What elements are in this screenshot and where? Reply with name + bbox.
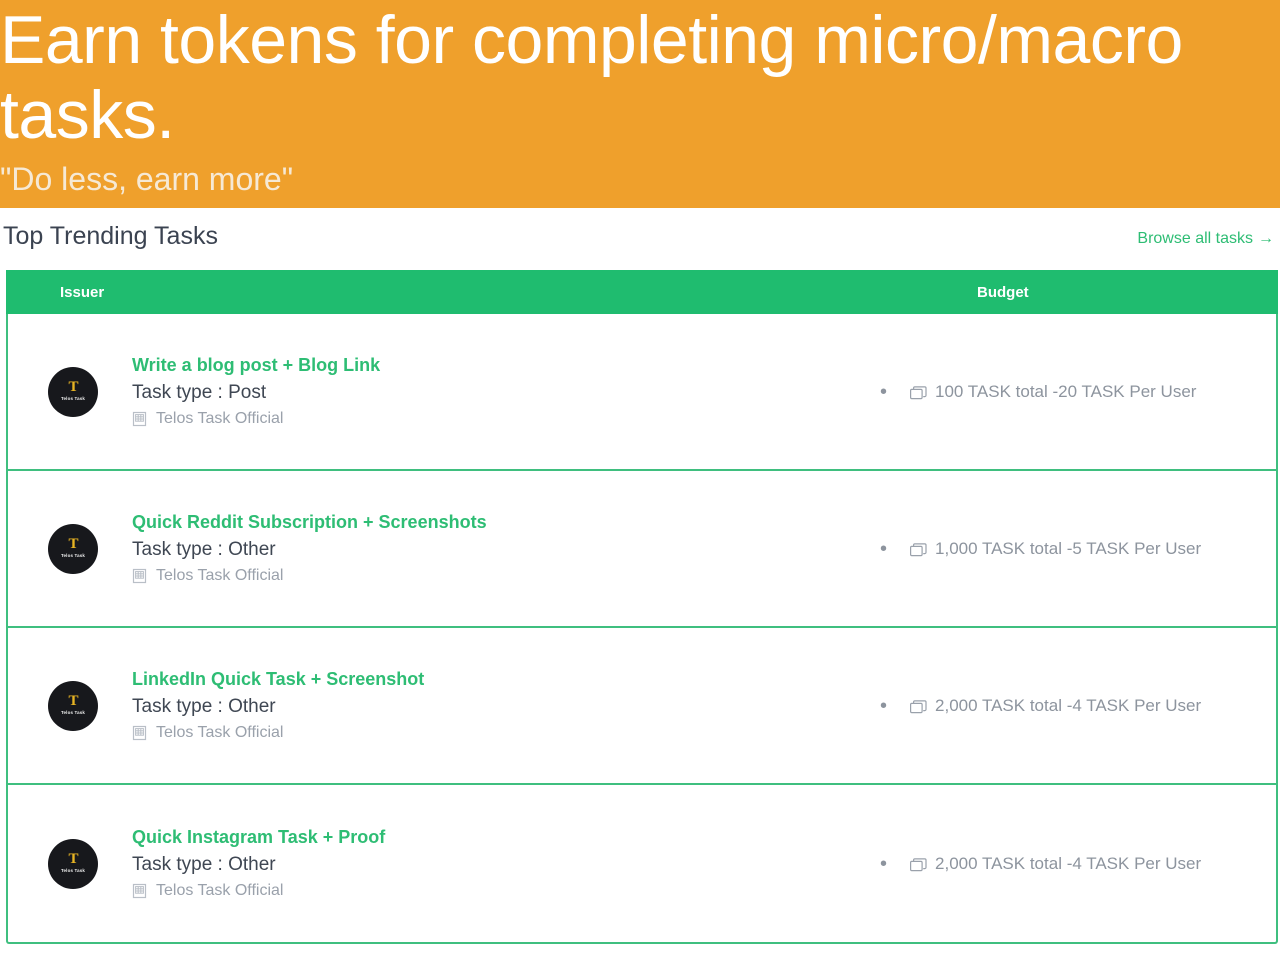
stacked-cards-icon: [910, 857, 927, 871]
building-icon: [132, 568, 147, 584]
bullet-icon: •: [880, 701, 887, 711]
building-icon: [132, 411, 147, 427]
hero-subtitle: "Do less, earn more": [0, 160, 293, 198]
task-issuer: Telos Task Official: [132, 567, 487, 585]
stacked-cards-icon: [910, 699, 927, 713]
task-info: Write a blog post + Blog Link Task type …: [132, 355, 380, 428]
issuer-cell: T Telos Task Quick Reddit Subscription +…: [8, 512, 868, 585]
page-title: Top Trending Tasks: [3, 222, 218, 251]
task-title-link[interactable]: Write a blog post + Blog Link: [132, 355, 380, 376]
task-info: Quick Instagram Task + Proof Task type :…: [132, 827, 385, 900]
avatar-label: Telos Task: [61, 395, 85, 402]
telos-task-logo-icon: T: [68, 538, 77, 551]
task-issuer: Telos Task Official: [132, 410, 380, 428]
stacked-cards-icon: [910, 542, 927, 556]
budget-text: 2,000 TASK total -4 TASK Per User: [935, 854, 1201, 874]
browse-all-tasks-label: Browse all tasks: [1137, 230, 1253, 247]
avatar: T Telos Task: [48, 839, 98, 889]
avatar: T Telos Task: [48, 681, 98, 731]
avatar-label: Telos Task: [61, 867, 85, 874]
task-issuer: Telos Task Official: [132, 882, 385, 900]
avatar-label: Telos Task: [61, 709, 85, 716]
budget-line: • 100 TASK total -20 TASK Per User: [880, 382, 1196, 402]
budget-cell: • 1,000 TASK total -5 TASK Per User: [868, 539, 1276, 559]
telos-task-logo-icon: T: [68, 381, 77, 394]
issuer-cell: T Telos Task Quick Instagram Task + Proo…: [8, 827, 868, 900]
table-row[interactable]: T Telos Task LinkedIn Quick Task + Scree…: [8, 628, 1276, 785]
issuer-cell: T Telos Task Write a blog post + Blog Li…: [8, 355, 868, 428]
task-info: LinkedIn Quick Task + Screenshot Task ty…: [132, 669, 424, 742]
telos-task-logo-icon: T: [68, 695, 77, 708]
issuer-cell: T Telos Task LinkedIn Quick Task + Scree…: [8, 669, 868, 742]
budget-cell: • 2,000 TASK total -4 TASK Per User: [868, 696, 1276, 716]
task-title-link[interactable]: Quick Reddit Subscription + Screenshots: [132, 512, 487, 533]
building-icon: [132, 883, 147, 899]
hero-banner: Earn tokens for completing micro/macro t…: [0, 0, 1280, 208]
budget-line: • 2,000 TASK total -4 TASK Per User: [880, 854, 1201, 874]
task-title-link[interactable]: LinkedIn Quick Task + Screenshot: [132, 669, 424, 690]
budget-line: • 2,000 TASK total -4 TASK Per User: [880, 696, 1201, 716]
task-title-link[interactable]: Quick Instagram Task + Proof: [132, 827, 385, 848]
table-row[interactable]: T Telos Task Quick Reddit Subscription +…: [8, 471, 1276, 628]
bullet-icon: •: [880, 544, 887, 554]
avatar: T Telos Task: [48, 367, 98, 417]
task-info: Quick Reddit Subscription + Screenshots …: [132, 512, 487, 585]
budget-cell: • 2,000 TASK total -4 TASK Per User: [868, 854, 1276, 874]
table-row[interactable]: T Telos Task Write a blog post + Blog Li…: [8, 314, 1276, 471]
stacked-cards-icon: [910, 385, 927, 399]
browse-all-tasks-link[interactable]: Browse all tasks→: [1137, 230, 1274, 248]
issuer-name: Telos Task Official: [156, 410, 283, 428]
avatar: T Telos Task: [48, 524, 98, 574]
bullet-icon: •: [880, 859, 887, 869]
section-header: Top Trending Tasks Browse all tasks→: [0, 208, 1280, 270]
issuer-name: Telos Task Official: [156, 567, 283, 585]
arrow-right-icon: →: [1258, 230, 1274, 247]
hero-title: Earn tokens for completing micro/macro t…: [0, 3, 1280, 153]
budget-text: 1,000 TASK total -5 TASK Per User: [935, 539, 1201, 559]
issuer-name: Telos Task Official: [156, 724, 283, 742]
task-type: Task type : Other: [132, 696, 424, 718]
budget-text: 2,000 TASK total -4 TASK Per User: [935, 696, 1201, 716]
trending-tasks-table: Issuer Budget T Telos Task Write a blog …: [6, 270, 1278, 944]
budget-cell: • 100 TASK total -20 TASK Per User: [868, 382, 1276, 402]
column-header-budget: Budget: [977, 284, 1029, 301]
bullet-icon: •: [880, 387, 887, 397]
avatar-label: Telos Task: [61, 552, 85, 559]
budget-line: • 1,000 TASK total -5 TASK Per User: [880, 539, 1201, 559]
task-type: Task type : Post: [132, 382, 380, 404]
telos-task-logo-icon: T: [68, 853, 77, 866]
table-row[interactable]: T Telos Task Quick Instagram Task + Proo…: [8, 785, 1276, 942]
budget-text: 100 TASK total -20 TASK Per User: [935, 382, 1196, 402]
task-type: Task type : Other: [132, 539, 487, 561]
task-issuer: Telos Task Official: [132, 724, 424, 742]
column-header-issuer: Issuer: [60, 284, 104, 301]
table-header-row: Issuer Budget: [6, 270, 1278, 314]
building-icon: [132, 725, 147, 741]
task-type: Task type : Other: [132, 854, 385, 876]
issuer-name: Telos Task Official: [156, 882, 283, 900]
